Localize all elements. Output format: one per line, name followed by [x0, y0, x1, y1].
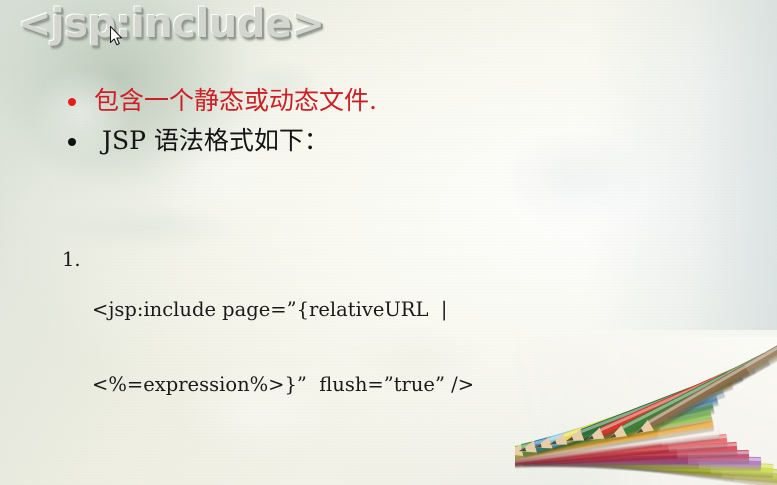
- presentation-slide: <jsp:include> 包含一个静态或动态文件. JSP 语法格式如下： 1…: [0, 0, 777, 485]
- code-line: <jsp:include page=”{relativeURL |: [92, 297, 777, 322]
- slide-title: <jsp:include>: [18, 1, 325, 47]
- bullet-dot-icon: [68, 98, 76, 106]
- bullet-text-1: 包含一个静态或动态文件.: [94, 84, 377, 118]
- list-marker: 1.: [62, 247, 92, 272]
- bullet-dot-icon: [68, 138, 76, 146]
- bullet-item-1: 包含一个静态或动态文件.: [68, 84, 777, 118]
- bullet-item-2: JSP 语法格式如下：: [68, 124, 777, 158]
- bullet-text-2: JSP 语法格式如下：: [94, 124, 329, 158]
